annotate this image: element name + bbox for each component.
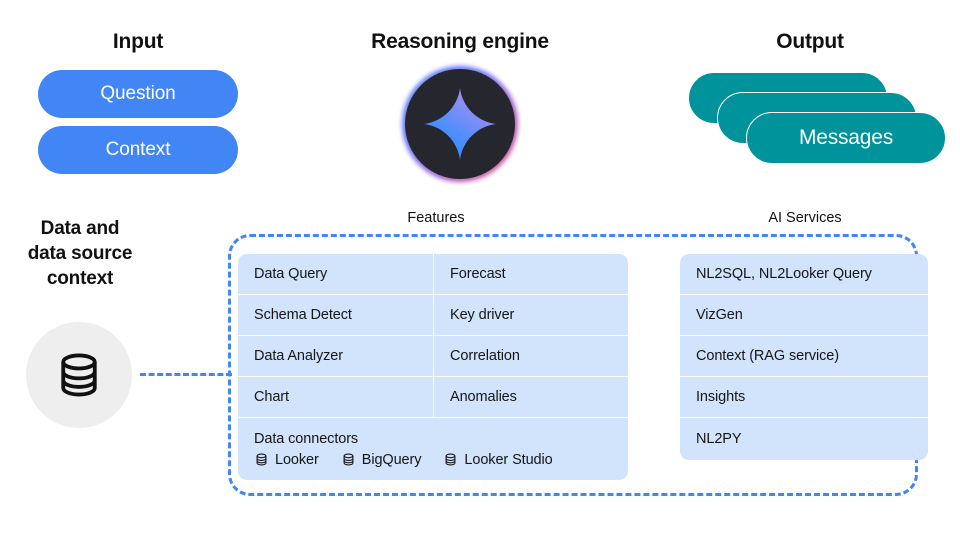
data-connectors-list: Looker BigQuery	[254, 452, 628, 468]
table-row[interactable]: Chart Anomalies	[238, 377, 628, 418]
feature-cell[interactable]: Chart	[238, 377, 433, 417]
data-source-title-line3: context	[0, 266, 160, 291]
database-icon	[52, 348, 106, 402]
connector-item-looker-studio[interactable]: Looker Studio	[443, 452, 552, 468]
list-item[interactable]: NL2SQL, NL2Looker Query	[680, 254, 928, 295]
data-connectors-header: Data connectors	[254, 431, 628, 447]
table-row[interactable]: Data Analyzer Correlation	[238, 336, 628, 377]
diagram-canvas: Input Reasoning engine Output Question C…	[0, 0, 960, 540]
data-source-title: Data and data source context	[0, 216, 160, 291]
connector-item-looker[interactable]: Looker	[254, 452, 319, 468]
service-cell[interactable]: Insights	[680, 377, 928, 417]
feature-cell[interactable]: Anomalies	[433, 377, 628, 417]
service-cell[interactable]: Context (RAG service)	[680, 336, 928, 376]
feature-cell[interactable]: Key driver	[433, 295, 628, 335]
connector-label: Looker	[275, 452, 319, 468]
service-cell[interactable]: NL2PY	[680, 418, 928, 459]
table-row[interactable]: Schema Detect Key driver	[238, 295, 628, 336]
sparkle-icon	[421, 85, 499, 163]
output-column-title: Output	[700, 30, 920, 54]
ai-services-panel: NL2SQL, NL2Looker Query VizGen Context (…	[680, 254, 928, 460]
database-icon	[254, 452, 269, 467]
connector-label: Looker Studio	[464, 452, 552, 468]
input-column-title: Input	[38, 30, 238, 54]
feature-cell[interactable]: Schema Detect	[238, 295, 433, 335]
database-icon	[341, 452, 356, 467]
service-cell[interactable]: NL2SQL, NL2Looker Query	[680, 254, 928, 294]
features-section-label: Features	[366, 210, 506, 226]
input-pill-question-label: Question	[100, 83, 175, 105]
service-cell[interactable]: VizGen	[680, 295, 928, 335]
input-pill-context-label: Context	[106, 139, 171, 161]
reasoning-engine-badge	[402, 66, 518, 182]
list-item[interactable]: Context (RAG service)	[680, 336, 928, 377]
data-source-icon-circle[interactable]	[26, 322, 132, 428]
services-section-label: AI Services	[735, 210, 875, 226]
list-item[interactable]: Insights	[680, 377, 928, 418]
feature-cell[interactable]: Correlation	[433, 336, 628, 376]
database-icon	[443, 452, 458, 467]
output-pill-front[interactable]: Messages	[746, 112, 946, 164]
feature-cell[interactable]: Data Query	[238, 254, 433, 294]
engine-column-title: Reasoning engine	[340, 30, 580, 54]
input-pill-context[interactable]: Context	[38, 126, 238, 174]
input-pill-question[interactable]: Question	[38, 70, 238, 118]
table-row[interactable]: Data Query Forecast	[238, 254, 628, 295]
feature-cell[interactable]: Data Analyzer	[238, 336, 433, 376]
connector-item-bigquery[interactable]: BigQuery	[341, 452, 422, 468]
feature-cell[interactable]: Forecast	[433, 254, 628, 294]
data-source-connector-line	[140, 373, 232, 376]
data-connectors-row: Data connectors Looker	[238, 418, 628, 480]
list-item[interactable]: NL2PY	[680, 418, 928, 459]
connector-label: BigQuery	[362, 452, 422, 468]
data-source-title-line2: data source	[0, 241, 160, 266]
output-pill-label: Messages	[799, 126, 893, 150]
data-source-title-line1: Data and	[0, 216, 160, 241]
features-panel: Data Query Forecast Schema Detect Key dr…	[238, 254, 628, 480]
list-item[interactable]: VizGen	[680, 295, 928, 336]
